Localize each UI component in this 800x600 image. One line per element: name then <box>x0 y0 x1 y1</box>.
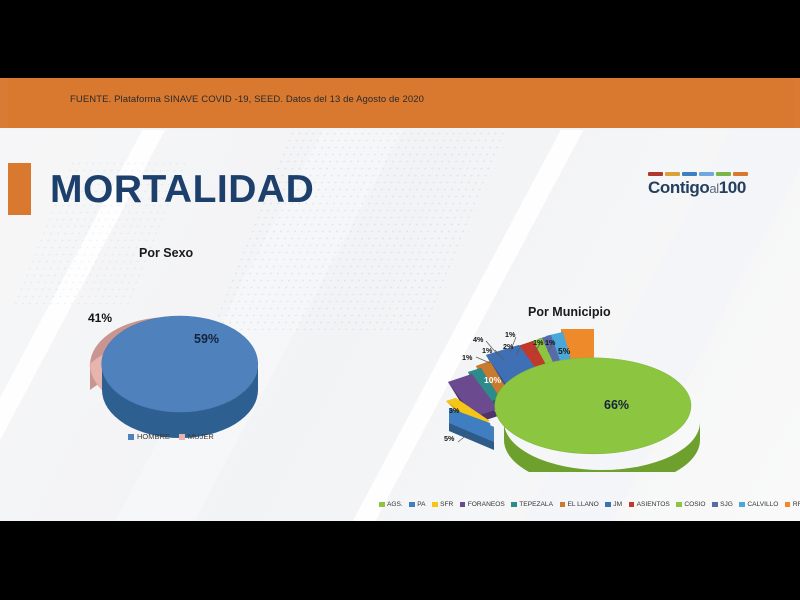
legend-swatch-asientos <box>629 502 635 508</box>
legend-swatch-tepezala <box>511 502 517 508</box>
pie-label-foraneos: 10% <box>484 375 501 385</box>
pie-label-sfr: 3% <box>449 406 459 415</box>
logo-number-text: 100 <box>719 178 746 197</box>
pie-label-mujer: 41% <box>88 311 112 325</box>
legend-item-asientos: ASIENTOS <box>629 501 670 508</box>
logo-bar-1 <box>648 172 663 176</box>
title-accent-bar <box>8 163 31 215</box>
legend-label-calvillo: CALVILLO <box>747 501 778 508</box>
legend-item-sfr: SFR <box>432 501 453 508</box>
pie-label-sjg: 1% <box>533 338 543 347</box>
legend-label-foraneos: FORANEOS <box>468 501 505 508</box>
legend-item-ags: AGS. <box>379 501 403 508</box>
legend-label-ags: AGS. <box>387 501 403 508</box>
legend-swatch-foraneos <box>460 502 466 508</box>
legend-swatch-sjg <box>712 502 718 508</box>
top-letterbox <box>0 0 800 78</box>
legend-label-tepezala: TEPEZALA <box>519 501 553 508</box>
legend-swatch-sfr <box>432 502 438 508</box>
chart-title-por-sexo: Por Sexo <box>139 246 193 260</box>
pie-label-tepezala: 1% <box>462 353 472 362</box>
legend-por-municipio: AGS. PA SFR FORANEOS TEPEZALA EL LLANO J… <box>379 501 800 508</box>
legend-label-asientos: ASIENTOS <box>637 501 670 508</box>
pie-label-asientos: 1% <box>505 330 515 339</box>
pie-label-hombre: 59% <box>194 332 219 346</box>
legend-item-cosio: COSIO <box>676 501 705 508</box>
legend-item-mujer: MUJER <box>179 432 214 441</box>
legend-swatch-calvillo <box>739 502 745 508</box>
bottom-letterbox <box>0 521 800 600</box>
legend-label-sjg: SJG <box>720 501 733 508</box>
logo-bar-4 <box>699 172 714 176</box>
legend-item-jm: JM <box>605 501 622 508</box>
legend-label-hombre: HOMBRE <box>137 432 170 441</box>
legend-item-sjg: SJG <box>712 501 733 508</box>
legend-label-pa: PA <box>417 501 425 508</box>
legend-item-hombre: HOMBRE <box>128 432 170 441</box>
legend-swatch-ags <box>379 502 385 508</box>
legend-item-foraneos: FORANEOS <box>460 501 505 508</box>
legend-item-pa: PA <box>409 501 425 508</box>
pie-label-ags: 66% <box>604 398 629 412</box>
legend-item-rr: RR <box>785 501 800 508</box>
logo-bar-2 <box>665 172 680 176</box>
legend-label-rr: RR <box>793 501 800 508</box>
slide-screen: FUENTE. Plataforma SINAVE COVID -19, SEE… <box>0 0 800 600</box>
legend-swatch-el-llano <box>560 502 566 508</box>
pie-label-rr: 5% <box>558 346 570 356</box>
legend-label-sfr: SFR <box>440 501 453 508</box>
pie-chart-por-municipio <box>446 322 708 472</box>
legend-swatch-mujer <box>179 434 185 440</box>
legend-item-tepezala: TEPEZALA <box>511 501 553 508</box>
legend-por-sexo: HOMBRE MUJER <box>128 432 214 441</box>
logo-color-bars <box>648 172 748 176</box>
page-title: MORTALIDAD <box>50 168 314 212</box>
source-text: FUENTE. Plataforma SINAVE COVID -19, SEE… <box>70 94 424 105</box>
legend-label-el-llano: EL LLANO <box>568 501 599 508</box>
legend-label-jm: JM <box>613 501 622 508</box>
pie-label-jm: 4% <box>473 335 483 344</box>
chart-title-por-municipio: Por Municipio <box>528 305 611 319</box>
legend-label-mujer: MUJER <box>188 432 214 441</box>
logo-wordmark: Contigoal100 <box>648 178 752 199</box>
contigo-al-100-logo: Contigoal100 <box>648 172 752 202</box>
legend-swatch-cosio <box>676 502 682 508</box>
logo-bar-3 <box>682 172 697 176</box>
pie-label-el-llano: 1% <box>482 346 492 355</box>
logo-bar-6 <box>733 172 748 176</box>
logo-brand-text: Contigo <box>648 178 709 197</box>
source-banner: FUENTE. Plataforma SINAVE COVID -19, SEE… <box>0 78 800 128</box>
pie-label-pa: 5% <box>444 434 454 443</box>
legend-label-cosio: COSIO <box>684 501 705 508</box>
pie-label-calvillo: 1% <box>545 338 555 347</box>
legend-item-el-llano: EL LLANO <box>560 501 599 508</box>
pie-label-cosio: 2% <box>503 342 513 351</box>
legend-item-calvillo: CALVILLO <box>739 501 778 508</box>
legend-swatch-jm <box>605 502 611 508</box>
legend-swatch-hombre <box>128 434 134 440</box>
pie-slice-hombre <box>102 316 258 438</box>
logo-al-text: al <box>709 181 718 196</box>
pie-slice-ags <box>495 358 700 472</box>
legend-swatch-rr <box>785 502 791 508</box>
pie-chart-por-sexo <box>62 272 322 452</box>
legend-swatch-pa <box>409 502 415 508</box>
logo-bar-5 <box>716 172 731 176</box>
